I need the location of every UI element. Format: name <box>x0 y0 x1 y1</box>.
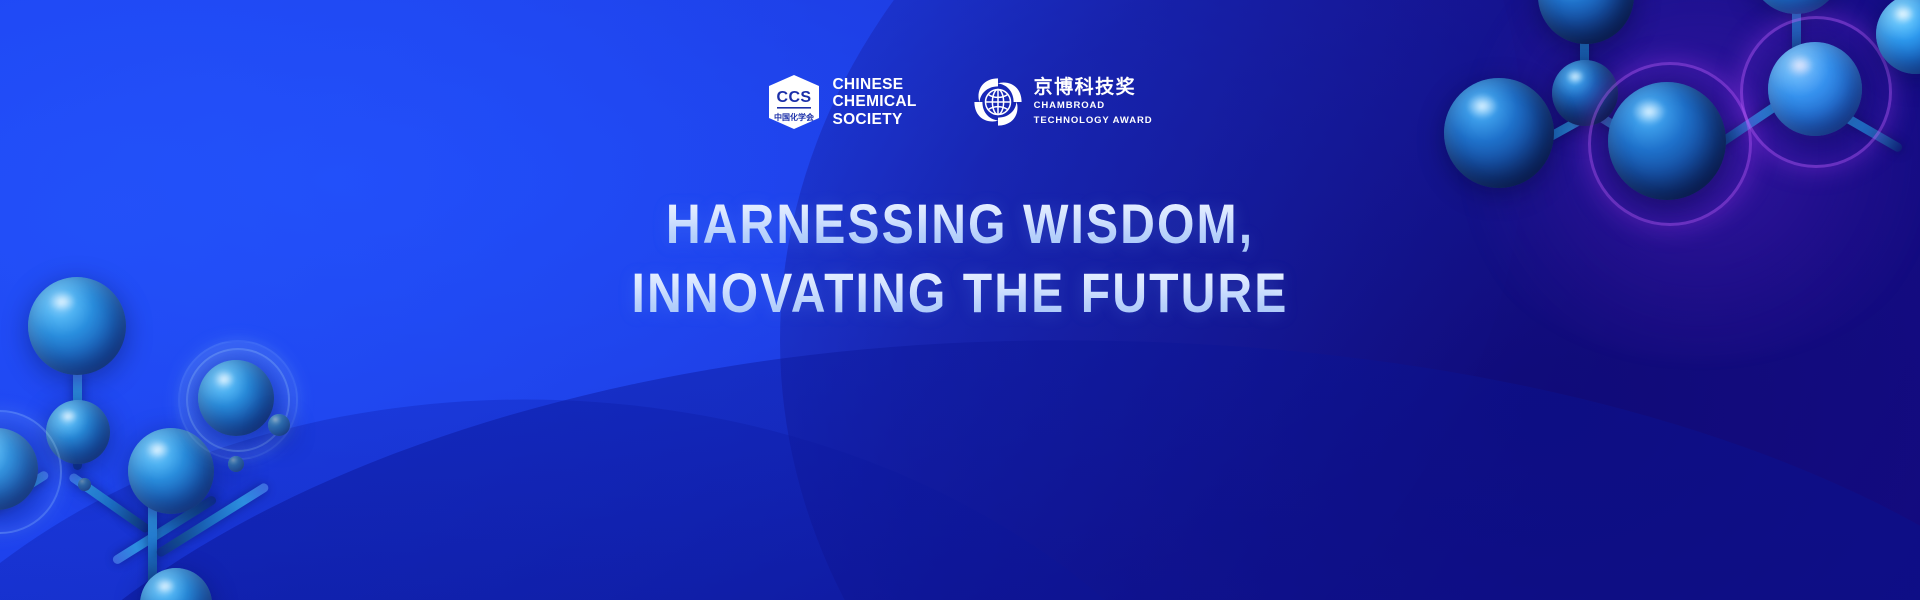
molecule-bond <box>68 472 152 534</box>
chambroad-cn-name: 京博科技奖 <box>1034 78 1153 97</box>
logo-chambroad-technology-award: 京博科技奖 CHAMBROAD TECHNOLOGY AWARD <box>973 77 1153 127</box>
molecule-bond <box>111 494 218 565</box>
ccs-line-1: CHINESE <box>832 76 916 93</box>
headline: HARNESSING WISDOM, INNOVATING THE FUTURE <box>0 196 1920 321</box>
banner-root: CCS 中国化学会 CHINESE CHEMICAL SOCIETY <box>0 0 1920 600</box>
background-wave-bottom-secondary <box>0 374 1309 600</box>
molecule-atom <box>0 428 38 510</box>
chambroad-en-line-2: TECHNOLOGY AWARD <box>1034 115 1153 127</box>
headline-line-1: HARNESSING WISDOM, <box>134 196 1785 252</box>
svg-text:中国化学会: 中国化学会 <box>774 112 814 122</box>
chambroad-wordmark: 京博科技奖 CHAMBROAD TECHNOLOGY AWARD <box>1034 78 1153 127</box>
molecule-bond <box>73 370 82 470</box>
headline-line-2: INNOVATING THE FUTURE <box>134 265 1785 321</box>
molecule-particle <box>78 478 91 491</box>
molecule-atom <box>1876 0 1920 74</box>
molecule-particle <box>268 414 290 436</box>
molecule-halo <box>0 410 62 534</box>
molecule-atom <box>128 428 214 514</box>
logo-row: CCS 中国化学会 CHINESE CHEMICAL SOCIETY <box>0 74 1920 130</box>
svg-text:CCS: CCS <box>777 89 812 106</box>
molecule-atom <box>140 568 212 600</box>
molecule-bond <box>1792 0 1801 68</box>
ccs-wordmark: CHINESE CHEMICAL SOCIETY <box>832 76 916 128</box>
molecule-atom <box>1538 0 1634 44</box>
molecule-atom <box>1750 0 1842 14</box>
chambroad-en-line-1: CHAMBROAD <box>1034 100 1153 112</box>
molecule-halo <box>178 340 298 460</box>
molecule-atom <box>46 400 110 464</box>
molecule-bond <box>148 495 157 600</box>
logo-chinese-chemical-society: CCS 中国化学会 CHINESE CHEMICAL SOCIETY <box>767 74 916 130</box>
molecule-bond <box>155 482 270 559</box>
molecule-halo <box>186 348 290 452</box>
molecule-particle <box>228 456 244 472</box>
molecule-atom <box>198 360 274 436</box>
ccs-hexagon-badge-icon: CCS 中国化学会 <box>767 74 821 130</box>
globe-icon <box>973 77 1023 127</box>
molecule-bond <box>0 470 50 519</box>
background-wave-bottom <box>0 309 1920 600</box>
ccs-line-2: CHEMICAL <box>832 93 916 110</box>
ccs-line-3: SOCIETY <box>832 111 916 128</box>
